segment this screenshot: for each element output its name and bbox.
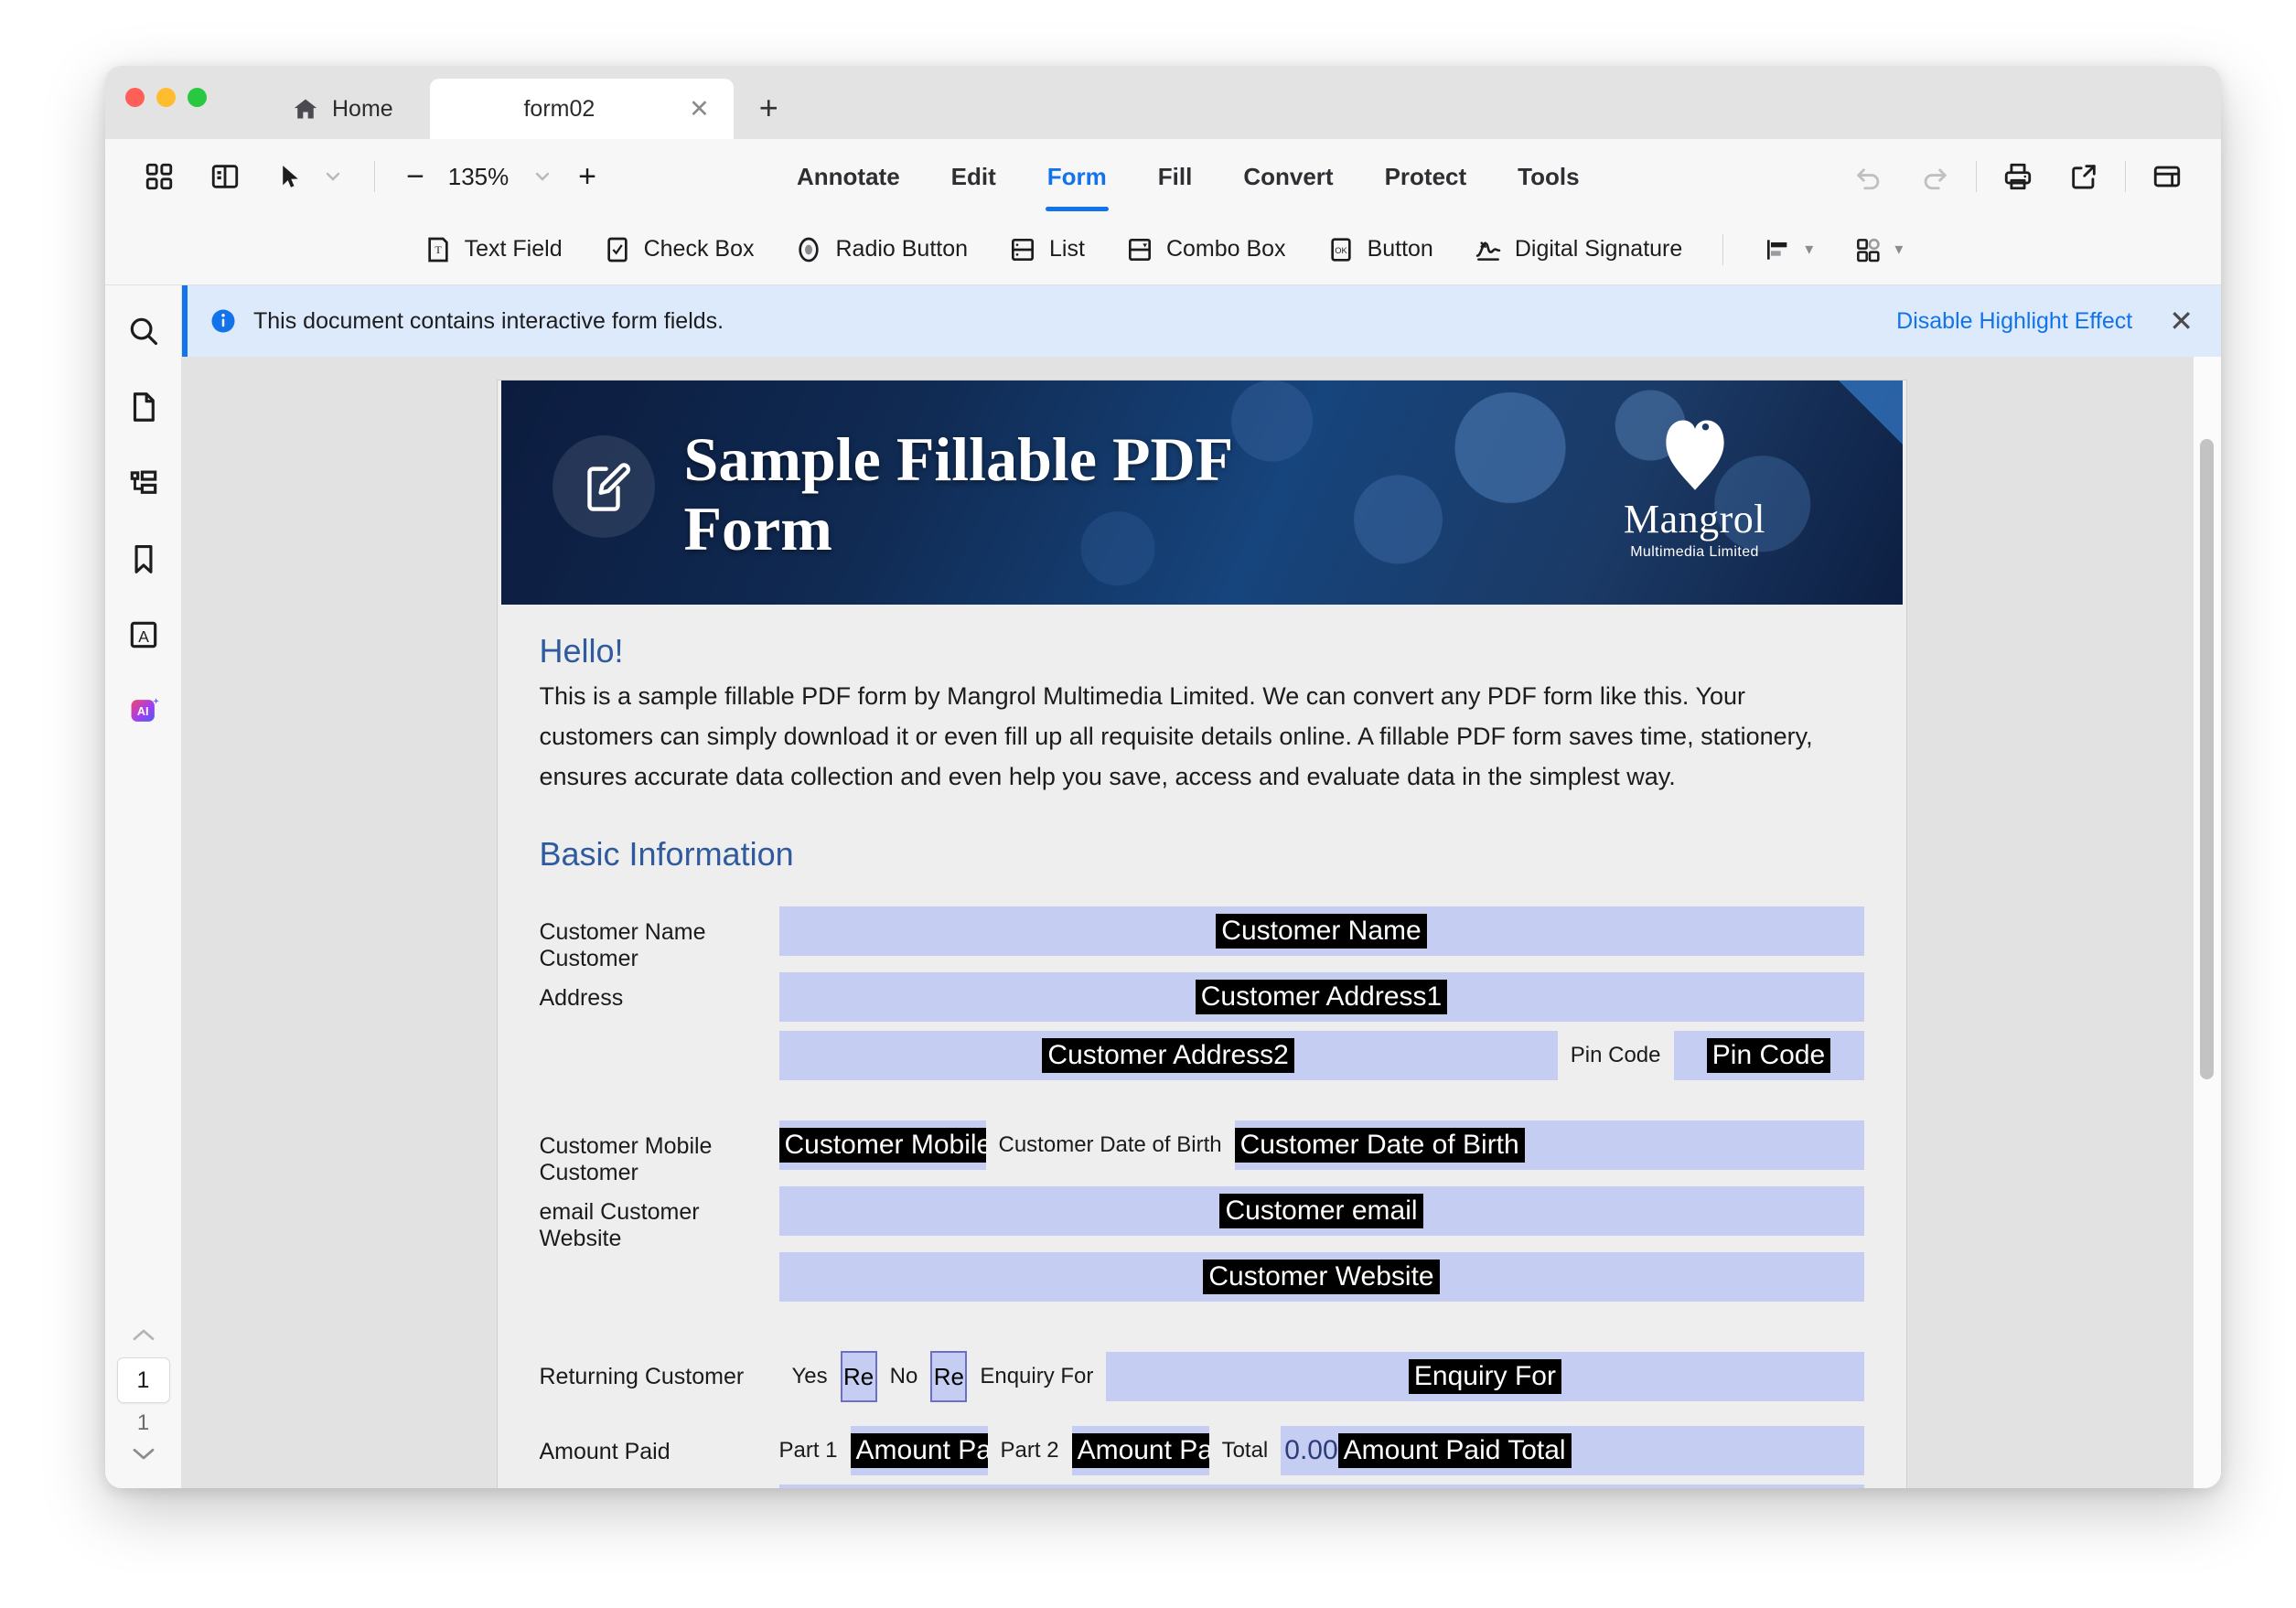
tab-form02-label: form02	[454, 96, 665, 123]
zoom-in-button[interactable]: +	[567, 156, 607, 197]
customer-dob-value: Customer Date of Birth	[1235, 1128, 1525, 1163]
minimize-window-button[interactable]	[156, 88, 176, 107]
form-row-amount-paid: Amount Paid Part 1 Amount Pai Part 2	[540, 1426, 1864, 1485]
customer-email-value: Customer email	[1219, 1194, 1422, 1228]
push-button-icon: OK	[1326, 235, 1356, 264]
label-address: Address	[540, 972, 779, 1012]
form-row-customer-address1: Address Customer Address1	[540, 972, 1864, 1031]
label-yes: Yes	[779, 1364, 841, 1389]
window-controls	[125, 88, 207, 107]
tool-radio-button[interactable]: Radio Button	[774, 228, 988, 272]
toolbar-right-group	[1848, 155, 2188, 198]
label-amount-paid: Amount Paid	[540, 1426, 779, 1465]
grid-view-icon[interactable]	[138, 155, 180, 198]
mangrol-logo: Mangrol Multimedia Limited	[1608, 410, 1782, 561]
form-row-returning-customer: Returning Customer Yes Re No Re	[540, 1351, 1864, 1411]
disable-highlight-effect-link[interactable]: Disable Highlight Effect	[1896, 308, 2132, 335]
svg-text:OK: OK	[1335, 246, 1347, 255]
split-view-icon[interactable]	[204, 155, 246, 198]
customer-email-field[interactable]: Customer email	[779, 1186, 1864, 1236]
text-field-icon: T	[424, 235, 453, 264]
tab-strip: Home form02 ✕ +	[268, 66, 778, 139]
enquiry-for-field[interactable]: Enquiry For	[1106, 1352, 1863, 1401]
check-box-icon	[603, 235, 632, 264]
customer-address2-field[interactable]: Customer Address2	[779, 1031, 1558, 1080]
greeting-heading: Hello!	[540, 632, 1864, 670]
outline-icon[interactable]	[118, 457, 169, 509]
returning-yes-value: Re	[841, 1361, 876, 1393]
digital-signature-icon	[1474, 235, 1503, 264]
label-customer-mobile: Customer Mobile Customer	[540, 1120, 779, 1186]
left-rail: A AI 1 1	[105, 285, 182, 1488]
document-hero-banner: Sample Fillable PDF Form Mangrol Multime…	[501, 381, 1903, 605]
document-title: Sample Fillable PDF Form	[684, 424, 1343, 563]
label-customer-name: Customer Name Customer	[540, 906, 779, 972]
undo-icon[interactable]	[1848, 155, 1890, 198]
customer-address1-field[interactable]: Customer Address1	[779, 972, 1864, 1022]
tool-digital-signature[interactable]: Digital Signature	[1454, 228, 1702, 272]
form-row-customer-website: Customer Website	[540, 1252, 1864, 1311]
tab-home[interactable]: Home	[268, 79, 430, 139]
menu-form[interactable]: Form	[1022, 154, 1132, 200]
amount-paid-part2-value: Amount Pai	[1072, 1433, 1209, 1468]
redo-icon[interactable]	[1914, 155, 1956, 198]
next-page-icon[interactable]	[130, 1443, 157, 1468]
content-column: This document contains interactive form …	[182, 285, 2221, 1488]
tool-list-label: List	[1049, 236, 1085, 263]
pin-code-field[interactable]: Pin Code	[1674, 1031, 1864, 1080]
banner-message: This document contains interactive form …	[253, 308, 724, 335]
zoom-controls: − 135% +	[395, 155, 607, 198]
customer-address1-value: Customer Address1	[1196, 980, 1447, 1014]
customer-name-value: Customer Name	[1216, 914, 1426, 949]
align-button[interactable]: ▾	[1743, 228, 1833, 272]
customer-website-value: Customer Website	[1203, 1260, 1439, 1294]
arrange-icon	[1853, 235, 1883, 264]
customer-dob-field[interactable]: Customer Date of Birth	[1235, 1120, 1864, 1170]
previous-page-icon[interactable]	[130, 1325, 157, 1350]
menu-protect[interactable]: Protect	[1359, 154, 1493, 200]
tool-text-field[interactable]: T Text Field	[403, 228, 583, 272]
pages-icon[interactable]	[118, 381, 169, 433]
returning-no-value: Re	[931, 1361, 967, 1393]
label-customer-dob: Customer Date of Birth	[986, 1132, 1235, 1158]
tool-button-label: Button	[1368, 236, 1433, 263]
label-no: No	[877, 1364, 931, 1389]
current-page-input[interactable]: 1	[117, 1357, 170, 1403]
amount-paid-part1-field[interactable]: Amount Pai	[851, 1426, 988, 1475]
home-icon	[292, 96, 319, 122]
close-window-button[interactable]	[125, 88, 145, 107]
title-bar: Home form02 ✕ +	[105, 66, 2221, 139]
close-icon[interactable]: ✕	[689, 97, 710, 122]
customer-mobile-value: Customer Mobile	[779, 1128, 986, 1163]
section-heading: Basic Information	[540, 835, 1864, 874]
tool-radio-button-label: Radio Button	[835, 236, 968, 263]
intro-paragraph: This is a sample fillable PDF form by Ma…	[540, 676, 1820, 797]
form-row-customer-mobile: Customer Mobile Customer Customer Mobile…	[540, 1120, 1864, 1186]
pen-document-icon	[553, 435, 655, 538]
amount-paid-part1-value: Amount Pai	[851, 1433, 988, 1468]
scrollbar-thumb[interactable]	[2200, 439, 2214, 1079]
form-row-customer-email: email Customer Website Customer email	[540, 1186, 1864, 1252]
pointer-tool-icon[interactable]	[270, 155, 312, 198]
logo-name: Mangrol	[1608, 496, 1782, 542]
label-customer-website-blank	[540, 1252, 779, 1265]
menu-fill[interactable]: Fill	[1132, 154, 1218, 200]
customer-address2-value: Customer Address2	[1042, 1038, 1293, 1073]
zoom-dropdown-caret-icon[interactable]	[521, 155, 563, 198]
form-row-customer-name: Customer Name Customer Customer Name	[540, 906, 1864, 972]
label-pin-code: Pin Code	[1558, 1043, 1674, 1068]
tab-form02[interactable]: form02 ✕	[430, 79, 734, 139]
svg-text:T: T	[435, 243, 442, 256]
label-part-2: Part 2	[988, 1438, 1072, 1463]
bookmark-icon[interactable]	[118, 533, 169, 584]
total-pages-label: 1	[137, 1410, 149, 1436]
tool-check-box-label: Check Box	[644, 236, 755, 263]
close-icon[interactable]: ✕	[2169, 306, 2194, 336]
menu-convert[interactable]: Convert	[1218, 154, 1358, 200]
mode-menubar: Annotate Edit Form Fill Convert Protect …	[771, 154, 1605, 200]
tool-digital-signature-label: Digital Signature	[1515, 236, 1682, 263]
main-toolbar: − 135% + Annotate Edit Form Fill Convert…	[105, 139, 2221, 214]
combo-box-icon	[1125, 235, 1154, 264]
search-icon[interactable]	[118, 306, 169, 357]
tool-list[interactable]: List	[988, 228, 1105, 272]
svg-text:AI: AI	[136, 705, 148, 718]
customer-website-field[interactable]: Customer Website	[779, 1252, 1864, 1302]
pointer-dropdown-caret-icon[interactable]	[312, 155, 354, 198]
menu-annotate[interactable]: Annotate	[771, 154, 926, 200]
returning-customer-no-radio[interactable]: Re	[930, 1351, 967, 1402]
reference-field[interactable]: Reference	[779, 1485, 1864, 1488]
right-panel-icon[interactable]	[2146, 155, 2188, 198]
pdf-page[interactable]: Sample Fillable PDF Form Mangrol Multime…	[498, 381, 1906, 1488]
label-total: Total	[1209, 1438, 1282, 1463]
tool-check-box[interactable]: Check Box	[583, 228, 775, 272]
hero-corner-accent	[1839, 381, 1903, 445]
interactive-form-banner: This document contains interactive form …	[182, 285, 2221, 357]
amount-paid-part2-field[interactable]: Amount Pai	[1072, 1426, 1209, 1475]
align-caret-icon[interactable]: ▾	[1805, 240, 1813, 259]
align-icon	[1764, 235, 1793, 264]
customer-mobile-field[interactable]: Customer Mobile	[779, 1120, 986, 1170]
label-reference: Reference	[540, 1485, 779, 1488]
form-tools-bar: T Text Field Check Box Radio Button	[105, 214, 2221, 285]
form-row-reference: Reference Reference	[540, 1485, 1864, 1488]
customer-name-field[interactable]: Customer Name	[779, 906, 1864, 956]
arrange-caret-icon[interactable]: ▾	[1894, 240, 1903, 259]
print-icon[interactable]	[1997, 155, 2039, 198]
label-customer-email: email Customer Website	[540, 1186, 779, 1252]
tool-combo-box[interactable]: Combo Box	[1105, 228, 1306, 272]
label-enquiry-for: Enquiry For	[967, 1364, 1106, 1389]
radio-button-icon	[794, 235, 823, 264]
menu-tools[interactable]: Tools	[1492, 154, 1604, 200]
tool-button[interactable]: OK Button	[1306, 228, 1454, 272]
document-body: Hello! This is a sample fillable PDF for…	[498, 605, 1906, 1488]
share-icon[interactable]	[2063, 155, 2105, 198]
document-viewport[interactable]: Sample Fillable PDF Form Mangrol Multime…	[182, 357, 2221, 1488]
zoom-level-value[interactable]: 135%	[439, 163, 518, 191]
info-icon	[209, 307, 237, 335]
list-icon	[1008, 235, 1037, 264]
svg-text:A: A	[138, 627, 149, 646]
maximize-window-button[interactable]	[188, 88, 207, 107]
application-window: Home form02 ✕ +	[105, 66, 2221, 1488]
tab-home-label: Home	[332, 96, 393, 123]
ai-assistant-icon[interactable]: AI	[118, 685, 169, 736]
pin-code-value: Pin Code	[1707, 1038, 1830, 1073]
new-tab-button[interactable]: +	[759, 91, 778, 124]
label-part-1: Part 1	[779, 1438, 851, 1463]
menu-edit[interactable]: Edit	[926, 154, 1022, 200]
amount-paid-total-field[interactable]: 0.00 Amount Paid Total	[1281, 1426, 1863, 1475]
tool-text-field-label: Text Field	[465, 236, 563, 263]
annotations-icon[interactable]: A	[118, 609, 169, 660]
label-address2-blank	[540, 1031, 779, 1044]
amount-paid-total-value: Amount Paid Total	[1338, 1433, 1572, 1468]
returning-customer-yes-radio[interactable]: Re	[841, 1351, 877, 1402]
workspace: A AI 1 1	[105, 285, 2221, 1488]
enquiry-for-value: Enquiry For	[1409, 1359, 1561, 1394]
label-returning-customer: Returning Customer	[540, 1351, 779, 1390]
arrange-button[interactable]: ▾	[1833, 228, 1923, 272]
logo-subtitle: Multimedia Limited	[1608, 544, 1782, 561]
amount-paid-total-prefix: 0.00	[1281, 1435, 1337, 1466]
page-navigator: 1 1	[105, 1325, 181, 1468]
vertical-scrollbar[interactable]	[2194, 357, 2221, 1488]
form-row-customer-address2: Customer Address2 Pin Code Pin Code	[540, 1031, 1864, 1089]
zoom-out-button[interactable]: −	[395, 156, 435, 197]
tool-combo-box-label: Combo Box	[1166, 236, 1286, 263]
